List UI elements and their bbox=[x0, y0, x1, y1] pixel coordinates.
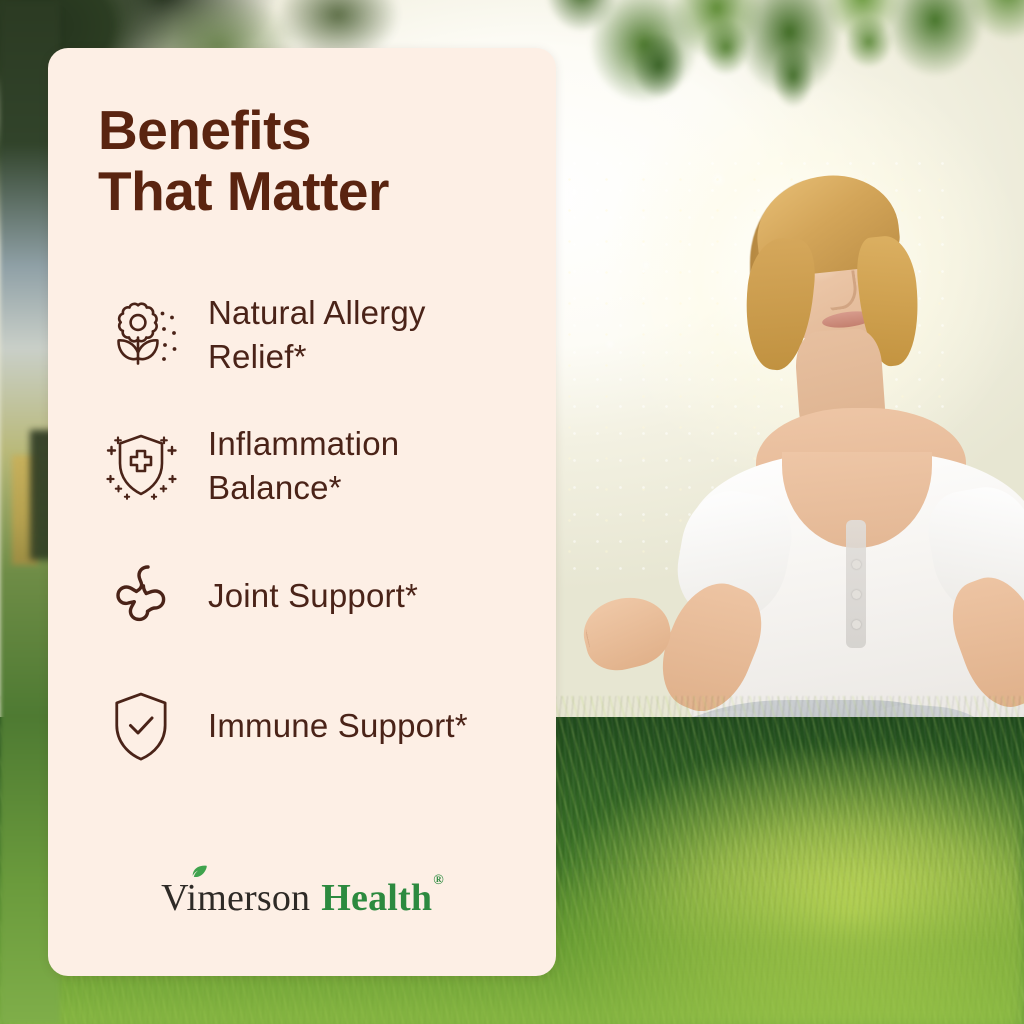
joint-bone-icon bbox=[98, 553, 184, 639]
list-item-label: Inflammation Balance* bbox=[208, 422, 399, 509]
brand-name-first: Vimerson bbox=[161, 876, 310, 920]
product-benefits-graphic: Benefits That Matter bbox=[0, 0, 1024, 1024]
shirt-button bbox=[852, 620, 861, 629]
shirt-button bbox=[852, 590, 861, 599]
brand-name-second-text: Health bbox=[321, 877, 432, 919]
brand-name-second: Health® bbox=[321, 876, 443, 920]
green-leaf-icon bbox=[191, 865, 208, 878]
list-item: Natural Allergy Relief* bbox=[98, 291, 516, 378]
shield-medical-cross-sparkle-icon bbox=[98, 423, 184, 509]
list-item-label: Joint Support* bbox=[208, 574, 418, 618]
shirt-button bbox=[852, 560, 861, 569]
benefits-card: Benefits That Matter bbox=[48, 48, 556, 976]
list-item-label: Natural Allergy Relief* bbox=[208, 291, 426, 378]
list-item-label: Immune Support* bbox=[208, 704, 468, 748]
flower-pollen-icon bbox=[98, 292, 184, 378]
brand-name-first-text: Vimerson bbox=[161, 877, 310, 919]
brand-logo-text: Vimerson Health® bbox=[161, 876, 443, 920]
shield-check-icon bbox=[98, 683, 184, 769]
list-item: Joint Support* bbox=[98, 553, 516, 639]
list-item: Inflammation Balance* bbox=[98, 422, 516, 509]
registered-trademark-symbol: ® bbox=[433, 873, 444, 888]
list-item: Immune Support* bbox=[98, 683, 516, 769]
page-title: Benefits That Matter bbox=[98, 100, 516, 221]
brand-logo: Vimerson Health® bbox=[48, 876, 556, 920]
benefits-list: Natural Allergy Relief* bbox=[98, 291, 516, 769]
